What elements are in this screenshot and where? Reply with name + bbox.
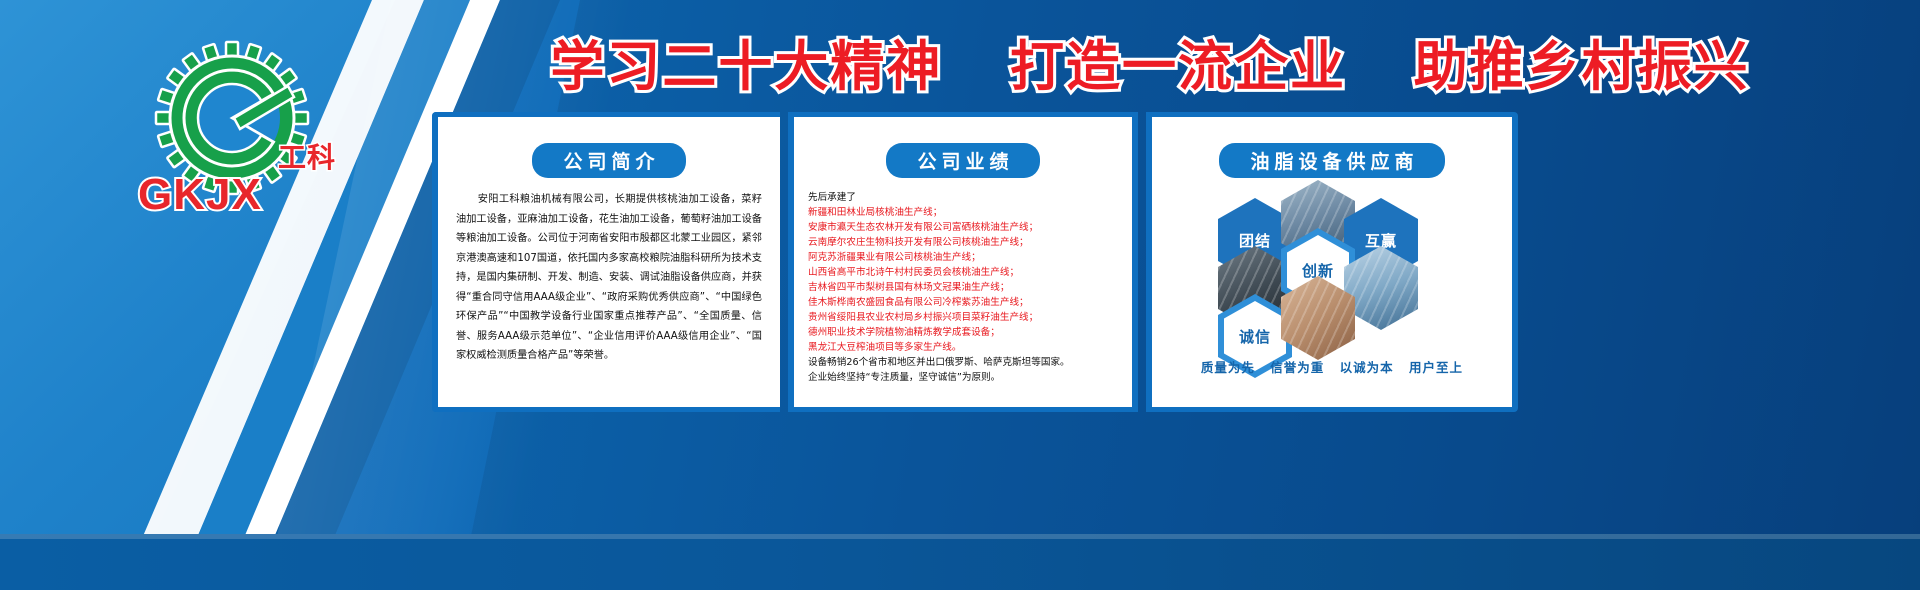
list-item: 佳木斯桦南农盛园食品有限公司冷榨紫苏油生产线； <box>808 295 1118 310</box>
company-profile-text: 安阳工科粮油机械有限公司，长期提供核桃油加工设备，菜籽油加工设备，亚麻油加工设备… <box>456 194 762 361</box>
slogan-word-4: 用户至上 <box>1409 357 1463 376</box>
poster-headline: 学习二十大精神 打造一流企业 助推乡村振兴 <box>420 22 1880 101</box>
content-cards: 公司简介 安阳工科粮油机械有限公司，长期提供核桃油加工设备，菜籽油加工设备，亚麻… <box>432 112 1882 412</box>
hexagon-cluster: 团结 互赢 创新 <box>1166 190 1498 380</box>
performance-footer-2: 企业始终坚持“专注质量，坚守诚信”为原则。 <box>808 370 1118 385</box>
list-item: 新疆和田林业局核桃油生产线； <box>808 205 1118 220</box>
card-equipment-supplier: 油脂设备供应商 团结 互赢 <box>1146 112 1518 412</box>
logo-chinese-name: 工科 <box>278 136 336 176</box>
card-company-profile: 公司简介 安阳工科粮油机械有限公司，长期提供核桃油加工设备，菜籽油加工设备，亚麻… <box>432 112 780 412</box>
hex-label: 诚信 <box>1239 326 1271 347</box>
card-company-performance: 公司业绩 先后承建了 新疆和田林业局核桃油生产线； 安康市瀛天生态农林开发有限公… <box>788 112 1138 412</box>
card-title-company-performance: 公司业绩 <box>886 143 1039 178</box>
headline-part-3: 助推乡村振兴 <box>1414 35 1750 98</box>
slogan-word-2: 信誉为重 <box>1270 357 1324 376</box>
list-item: 云南摩尔农庄生物科技开发有限公司核桃油生产线； <box>808 235 1118 250</box>
list-item: 吉林省四平市梨树县国有林场文冠果油生产线； <box>808 280 1118 295</box>
poster-canvas: 工科 GKJX 学习二十大精神 打造一流企业 助推乡村振兴 公司简介 安阳工科粮… <box>0 0 1920 590</box>
slogan-word-3: 以诚为本 <box>1340 357 1394 376</box>
performance-project-list: 新疆和田林业局核桃油生产线； 安康市瀛天生态农林开发有限公司富硒核桃油生产线； … <box>808 205 1118 355</box>
list-item: 贵州省绥阳县农业农村局乡村振兴项目菜籽油生产线； <box>808 310 1118 325</box>
logo-english-name: GKJX <box>138 170 262 220</box>
list-item: 黑龙江大豆榨油项目等多家生产线。 <box>808 340 1118 355</box>
performance-intro: 先后承建了 <box>808 190 1118 205</box>
performance-footer-1: 设备畅销26个省市和地区并出口俄罗斯、哈萨克斯坦等国家。 <box>808 355 1118 370</box>
company-profile-body: 安阳工科粮油机械有限公司，长期提供核桃油加工设备，菜籽油加工设备，亚麻油加工设备… <box>452 190 766 366</box>
list-item: 阿克苏浙疆果业有限公司核桃油生产线； <box>808 250 1118 265</box>
headline-part-1: 学习二十大精神 <box>550 35 942 98</box>
card-title-company-profile: 公司简介 <box>532 143 685 178</box>
background-bottom-band <box>0 534 1920 590</box>
list-item: 德州职业技术学院植物油精炼教学成套设备； <box>808 325 1118 340</box>
supplier-slogan: 质量为先 信誉为重 以诚为本 用户至上 <box>1166 357 1498 376</box>
slogan-word-1: 质量为先 <box>1201 357 1255 376</box>
card-title-equipment-supplier: 油脂设备供应商 <box>1219 143 1444 178</box>
headline-part-2: 打造一流企业 <box>1010 35 1346 98</box>
list-item: 山西省高平市北诗午村村民委员会核桃油生产线； <box>808 265 1118 280</box>
company-logo: 工科 GKJX <box>130 34 330 214</box>
list-item: 安康市瀛天生态农林开发有限公司富硒核桃油生产线； <box>808 220 1118 235</box>
